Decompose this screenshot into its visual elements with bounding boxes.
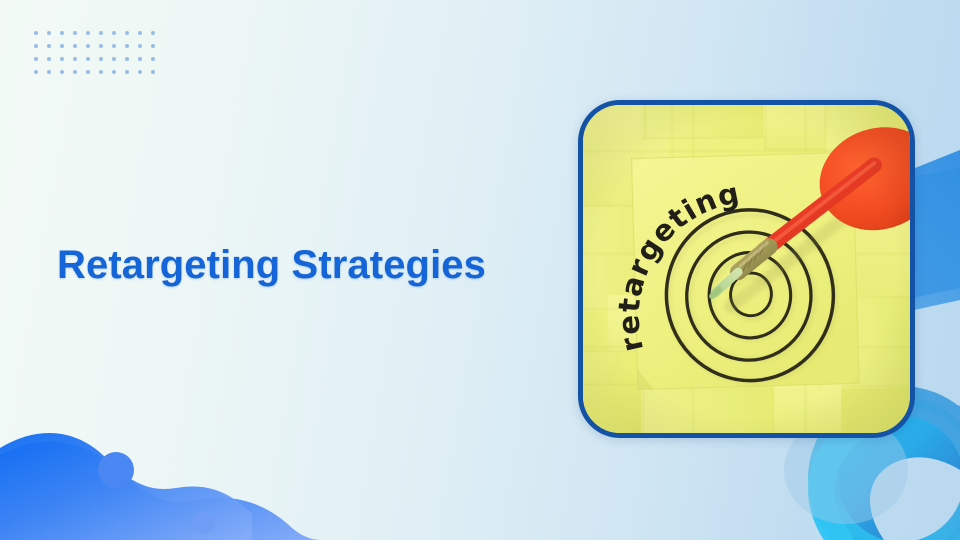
dot (99, 57, 103, 61)
dot (151, 31, 155, 35)
dot (86, 31, 90, 35)
image-card: retargeting (578, 100, 915, 438)
dot (73, 44, 77, 48)
dot (47, 31, 51, 35)
dot (99, 31, 103, 35)
dot (60, 44, 64, 48)
dot (125, 44, 129, 48)
dot (138, 57, 142, 61)
decorative-circle-small (192, 512, 214, 534)
dot (86, 57, 90, 61)
title-block: Retargeting Strategies (57, 240, 527, 290)
blob-bottom-left-upper (0, 433, 252, 540)
dot (112, 70, 116, 74)
dot-grid-decoration (34, 31, 164, 83)
dot (34, 31, 38, 35)
sticky-note-target-photo: retargeting (583, 105, 910, 433)
dot (99, 44, 103, 48)
dot (151, 70, 155, 74)
dot (60, 31, 64, 35)
blob-bottom-left (0, 442, 322, 540)
dot (125, 31, 129, 35)
dot (125, 70, 129, 74)
dot (112, 44, 116, 48)
dot (73, 70, 77, 74)
dot (47, 57, 51, 61)
dot (138, 70, 142, 74)
dot (151, 44, 155, 48)
dot (60, 70, 64, 74)
dot (34, 70, 38, 74)
dot (73, 57, 77, 61)
dot (99, 70, 103, 74)
dot (125, 57, 129, 61)
decorative-circle-large (98, 452, 134, 488)
dot (60, 57, 64, 61)
dot (47, 70, 51, 74)
dot (73, 31, 77, 35)
dot (47, 44, 51, 48)
dot (34, 57, 38, 61)
dot (112, 31, 116, 35)
dot (151, 57, 155, 61)
dot (138, 31, 142, 35)
dot (86, 44, 90, 48)
slide-canvas: Retargeting Strategies (0, 0, 960, 540)
dot (138, 44, 142, 48)
dot (112, 57, 116, 61)
dot (34, 44, 38, 48)
dot (86, 70, 90, 74)
page-title: Retargeting Strategies (57, 240, 527, 290)
